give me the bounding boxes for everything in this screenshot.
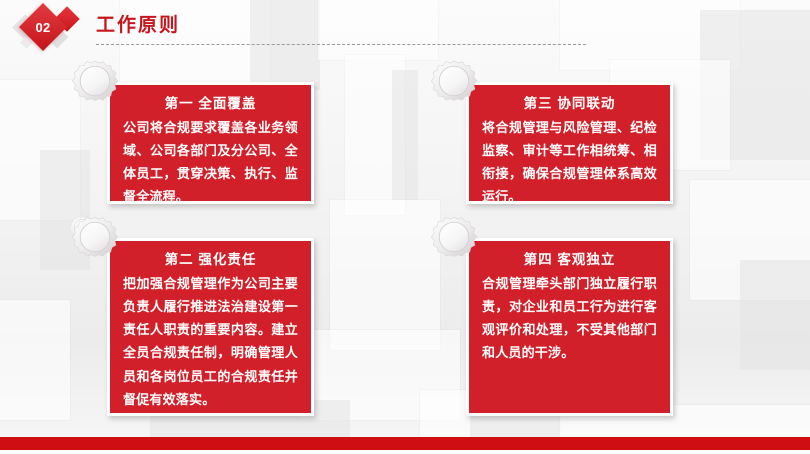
principle-card-body: 将合规管理与风险管理、纪检监察、审计等工作相统筹、相衔接，确保合规管理体系高效运… (482, 116, 657, 209)
slide-header: 02 工作原则 (0, 0, 810, 56)
title-divider (96, 44, 586, 45)
principle-card-body: 把加强合规管理作为公司主要负责人履行推进法治建设第一责任人职责的重要内容。建立全… (123, 272, 298, 411)
principle-card-title: 第四 客观独立 (482, 248, 657, 268)
principle-card-title: 第二 强化责任 (123, 248, 298, 268)
section-number: 02 (26, 10, 60, 44)
principle-card[interactable]: 第二 强化责任 把加强合规管理作为公司主要负责人履行推进法治建设第一责任人职责的… (107, 238, 314, 416)
principle-card-body: 公司将合规要求覆盖各业务领域、公司各部门及分公司、全体员工，贯穿决策、执行、监督… (123, 116, 298, 209)
section-number-logo: 02 (8, 2, 94, 52)
principle-card-body: 合规管理牵头部门独立履行职责，对企业和员工行为进行客观评价和处理，不受其他部门和… (482, 272, 657, 365)
principle-card-title: 第一 全面覆盖 (123, 92, 298, 112)
principle-card-title: 第三 协同联动 (482, 92, 657, 112)
principle-card[interactable]: 第四 客观独立 合规管理牵头部门独立履行职责，对企业和员工行为进行客观评价和处理… (466, 238, 673, 416)
principle-card[interactable]: 第三 协同联动 将合规管理与风险管理、纪检监察、审计等工作相统筹、相衔接，确保合… (466, 82, 673, 204)
slide-canvas: 02 工作原则 第一 全面覆盖 公司将合规要求覆盖各业务领域、公司各部门及分公司… (0, 0, 810, 454)
page-title: 工作原则 (96, 10, 180, 37)
footer-base (0, 450, 810, 454)
footer-accent-bar (0, 437, 810, 450)
principle-card[interactable]: 第一 全面覆盖 公司将合规要求覆盖各业务领域、公司各部门及分公司、全体员工，贯穿… (107, 82, 314, 204)
